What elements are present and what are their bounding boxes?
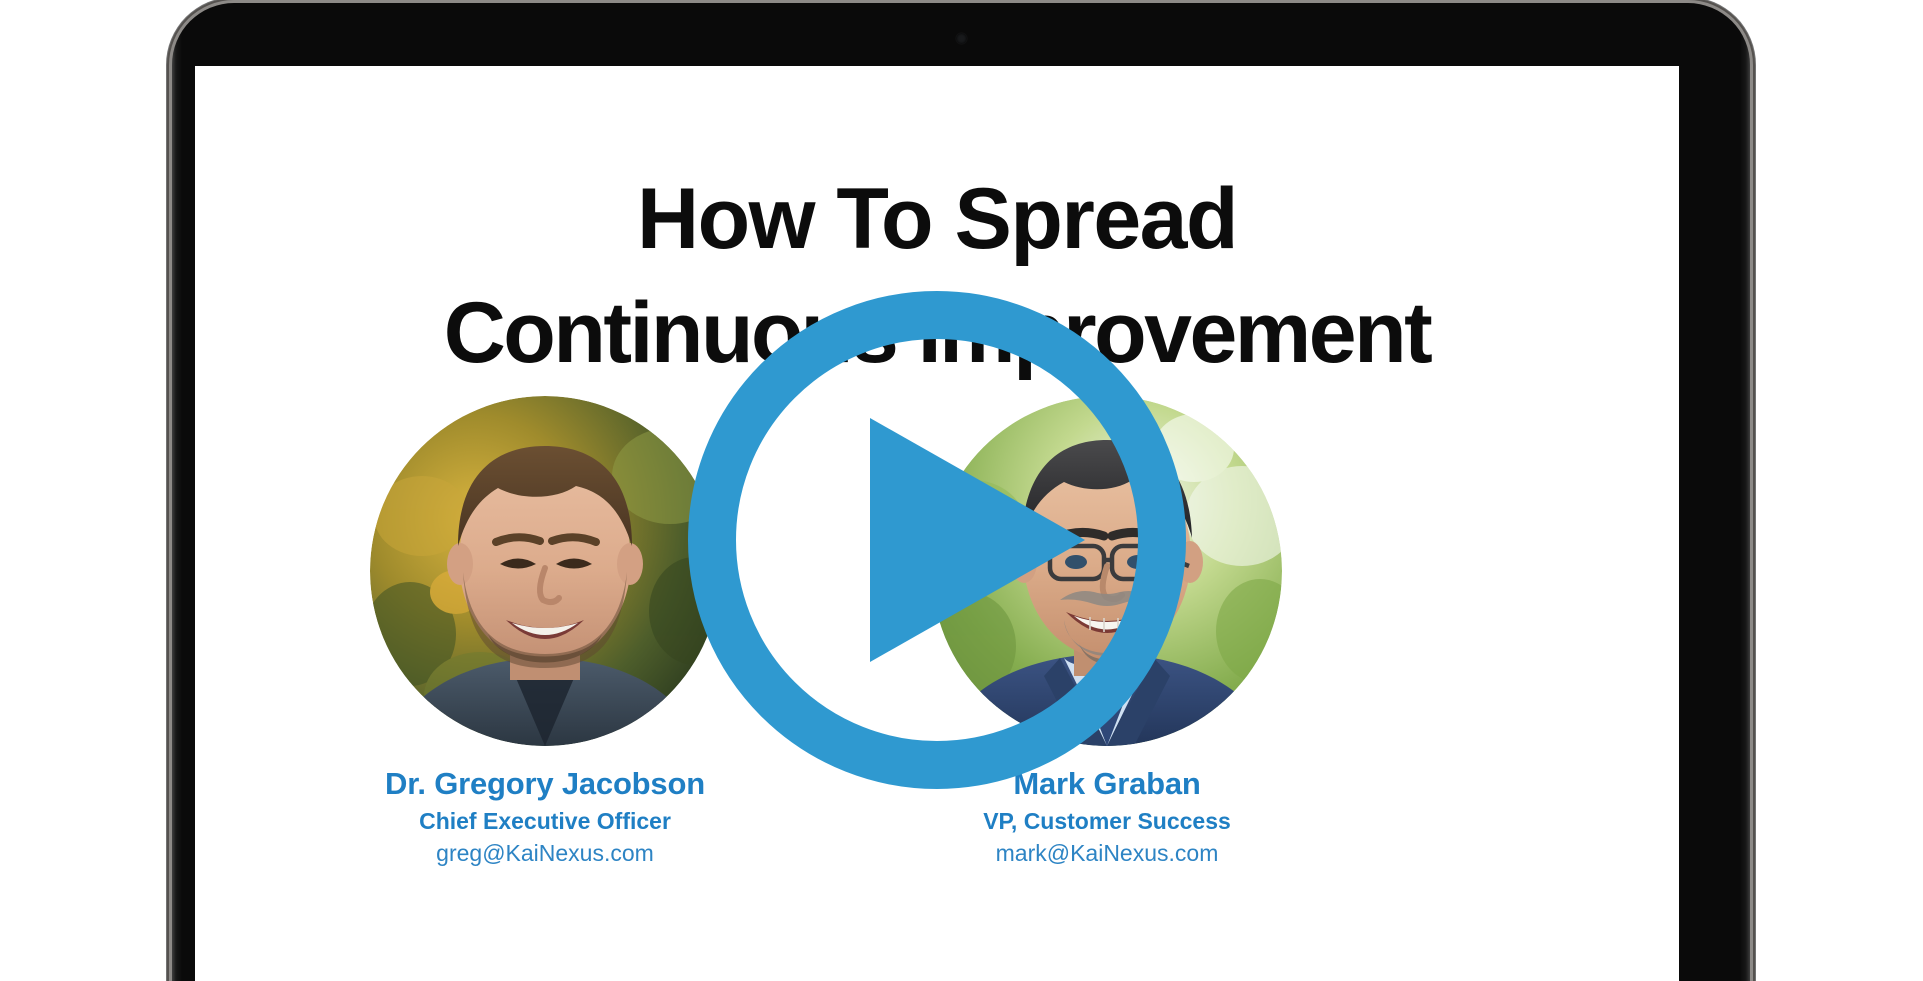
tablet-screen: How To Spread Continuous Improvement — [195, 66, 1679, 981]
tablet-device-frame: How To Spread Continuous Improvement — [172, 3, 1750, 981]
front-camera-icon — [956, 33, 967, 44]
speaker-name: Dr. Gregory Jacobson — [360, 766, 730, 802]
speaker-card-1: Dr. Gregory Jacobson Chief Executive Off… — [360, 396, 730, 867]
title-line-1: How To Spread — [637, 171, 1237, 267]
speaker-email: greg@KaiNexus.com — [360, 840, 730, 867]
speaker-role: VP, Customer Success — [922, 808, 1292, 835]
speaker-email: mark@KaiNexus.com — [922, 840, 1292, 867]
play-button[interactable] — [687, 290, 1187, 790]
screenshot-root: How To Spread Continuous Improvement — [0, 0, 1923, 981]
play-circle-icon — [712, 315, 1162, 765]
avatar-gregory-jacobson — [370, 396, 720, 746]
speaker-role: Chief Executive Officer — [360, 808, 730, 835]
video-thumbnail-slide: How To Spread Continuous Improvement — [195, 66, 1679, 981]
